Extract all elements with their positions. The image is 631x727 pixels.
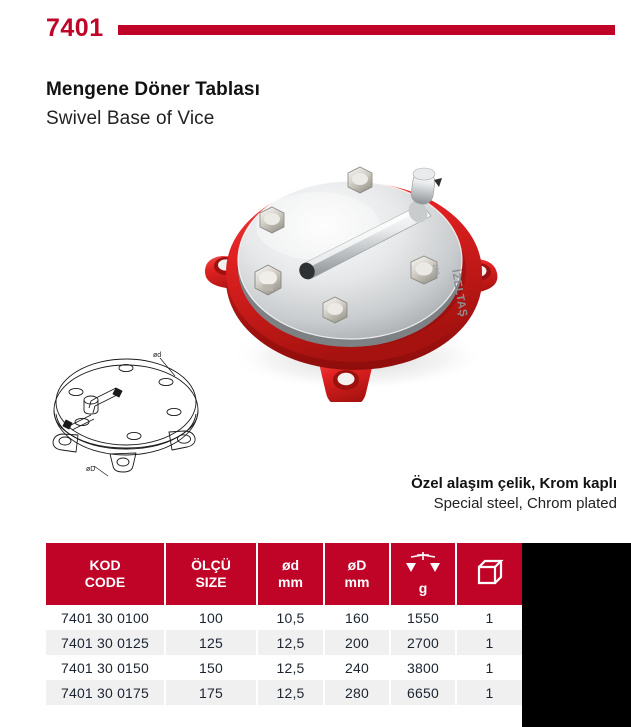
cell-weight: 2700 (391, 630, 457, 655)
table-row: 7401 30 0175 175 12,5 280 6650 1 (46, 680, 522, 705)
material-note: Özel alaşım çelik, Krom kaplı Special st… (411, 474, 617, 514)
col-header-packaging (457, 543, 522, 605)
cell-bigd: 160 (325, 605, 391, 630)
cell-size: 150 (166, 655, 258, 680)
cell-code: 7401 30 0100 (46, 605, 166, 630)
product-photo-svg: İZELTAŞ 100 (190, 152, 515, 402)
col-header-code: KOD CODE (46, 543, 166, 605)
material-note-tr: Özel alaşım çelik, Krom kaplı (411, 474, 617, 494)
cell-weight: 6650 (391, 680, 457, 705)
col-header-size-l1: ÖLÇÜ (191, 557, 231, 573)
col-header-bigd: øD mm (325, 543, 391, 605)
cell-weight: 3800 (391, 655, 457, 680)
technical-drawing: ød øD (48, 348, 233, 483)
col-header-bigd-l1: øD (348, 557, 367, 573)
cell-d: 12,5 (258, 655, 325, 680)
cell-weight: 1550 (391, 605, 457, 630)
cell-qty: 1 (457, 605, 522, 630)
cell-bigd: 280 (325, 680, 391, 705)
product-title-en: Swivel Base of Vice (46, 108, 214, 130)
catalog-page: 7401 Mengene Döner Tablası Swivel Base o… (0, 0, 631, 727)
cell-code: 7401 30 0125 (46, 630, 166, 655)
col-header-d-l2: mm (260, 574, 321, 591)
table-row: 7401 30 0100 100 10,5 160 1550 1 (46, 605, 522, 630)
header-rule (118, 25, 615, 35)
drawing-callout-d: ød (153, 352, 161, 359)
product-photo: İZELTAŞ 100 (190, 152, 515, 402)
spec-table: KOD CODE ÖLÇÜ SIZE ød mm øD mm (46, 543, 522, 705)
scale-icon (393, 551, 453, 579)
spec-table-wrapper: KOD CODE ÖLÇÜ SIZE ød mm øD mm (46, 543, 522, 705)
col-header-code-l2: CODE (48, 574, 162, 591)
cell-d: 12,5 (258, 680, 325, 705)
col-header-d: ød mm (258, 543, 325, 605)
cell-qty: 1 (457, 680, 522, 705)
col-header-size: ÖLÇÜ SIZE (166, 543, 258, 605)
page-header: 7401 (0, 0, 631, 56)
cell-bigd: 240 (325, 655, 391, 680)
material-note-en: Special steel, Chrom plated (411, 494, 617, 514)
product-title-tr: Mengene Döner Tablası (46, 79, 260, 101)
cell-d: 12,5 (258, 630, 325, 655)
cell-qty: 1 (457, 630, 522, 655)
spec-table-head: KOD CODE ÖLÇÜ SIZE ød mm øD mm (46, 543, 522, 605)
table-row: 7401 30 0125 125 12,5 200 2700 1 (46, 630, 522, 655)
cell-d: 10,5 (258, 605, 325, 630)
cell-size: 125 (166, 630, 258, 655)
col-header-bigd-l2: mm (327, 574, 387, 591)
spec-table-body: 7401 30 0100 100 10,5 160 1550 1 7401 30… (46, 605, 522, 705)
cell-code: 7401 30 0175 (46, 680, 166, 705)
black-occlusion-block (522, 543, 631, 727)
cell-qty: 1 (457, 655, 522, 680)
col-header-weight-unit: g (393, 580, 453, 597)
col-header-weight: g (391, 543, 457, 605)
product-group-code: 7401 (46, 16, 104, 41)
cell-code: 7401 30 0150 (46, 655, 166, 680)
cell-size: 100 (166, 605, 258, 630)
table-row: 7401 30 0150 150 12,5 240 3800 1 (46, 655, 522, 680)
box-icon (459, 558, 520, 590)
col-header-code-l1: KOD (89, 557, 120, 573)
cell-bigd: 200 (325, 630, 391, 655)
technical-drawing-svg: ød øD (48, 348, 233, 483)
spec-table-header-row: KOD CODE ÖLÇÜ SIZE ød mm øD mm (46, 543, 522, 605)
col-header-d-l1: ød (282, 557, 299, 573)
col-header-size-l2: SIZE (168, 574, 254, 591)
cell-size: 175 (166, 680, 258, 705)
drawing-callout-D: øD (86, 466, 95, 473)
